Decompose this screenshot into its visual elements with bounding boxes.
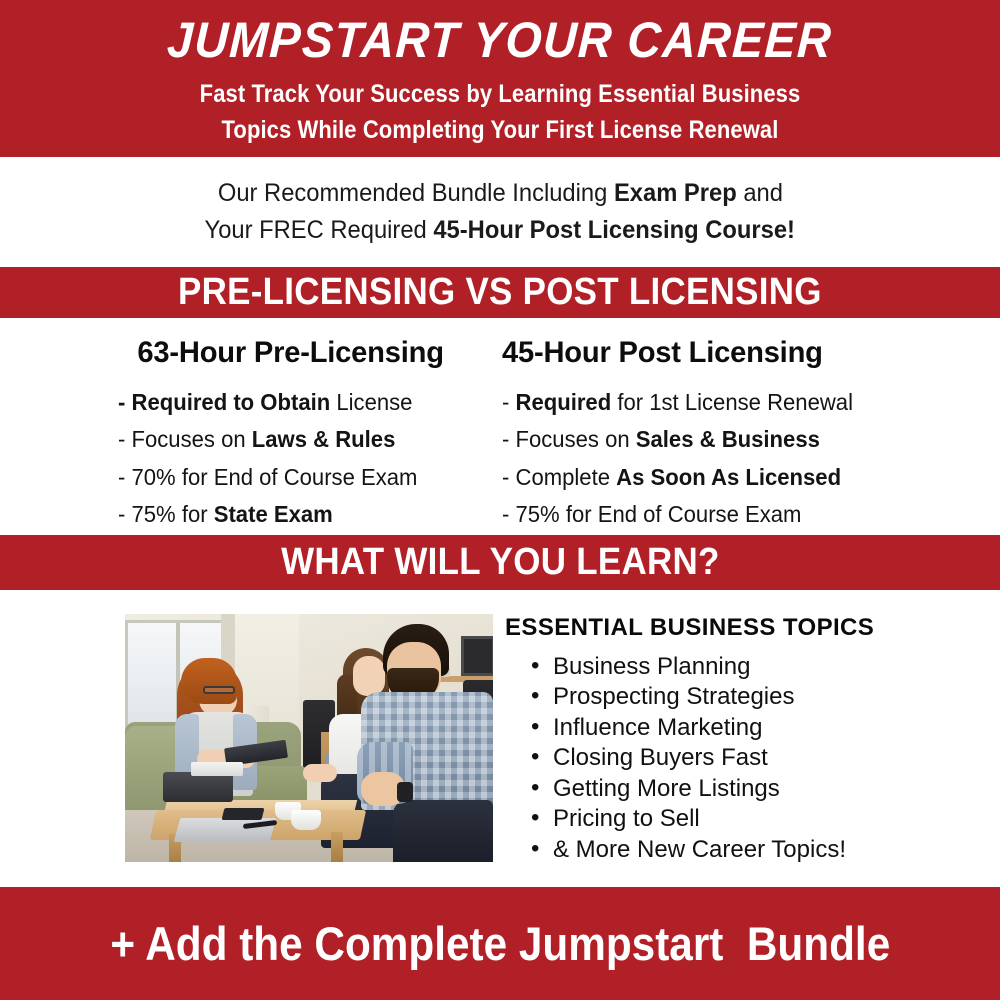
list-bold: Sales & Business [636,426,820,452]
topics-panel: ESSENTIAL BUSINESS TOPICS Business Plann… [505,614,975,865]
add-bundle-banner[interactable]: + Add the Complete Jumpstart Bundle [0,887,1000,1000]
list-plain: for 1st License Renewal [611,389,853,415]
list-plain: 75% for End of Course Exam [516,501,802,527]
list-dash: - [502,464,516,490]
list-item: - Focuses on Sales & Business [502,421,980,458]
list-dash: - [502,501,516,527]
postlicensing-column: 45-Hour Post Licensing - Required for 1s… [480,318,1000,535]
list-dash: - [118,426,132,452]
learn-section: ESSENTIAL BUSINESS TOPICS Business Plann… [0,590,1000,887]
list-dash: - [118,389,132,415]
photo-phone [222,808,265,820]
header-subtitle-line-1: Fast Track Your Success by Learning Esse… [60,77,940,113]
list-dash: - [118,501,132,527]
comparison-banner: PRE-LICENSING VS POST LICENSING [0,267,1000,318]
topics-list: Business Planning Prospecting Strategies… [505,652,975,865]
intro-line-1-pre: Our Recommended Bundle Including [217,179,613,207]
list-item: - Complete As Soon As Licensed [502,459,980,496]
prelicensing-column: 63-Hour Pre-Licensing - Required to Obta… [0,318,480,535]
list-dash: - [118,464,132,490]
intro-line-2-bold: 45-Hour Post Licensing Course! [434,216,796,244]
list-item: Prospecting Strategies [531,682,975,712]
prelicensing-heading: 63-Hour Pre-Licensing [118,336,469,370]
photo-woman-client-hand [303,764,337,782]
photo-table-leg-right [331,832,343,862]
intro-line-1-bold: Exam Prep [614,179,737,207]
list-item: Business Planning [531,652,975,682]
topics-heading: ESSENTIAL BUSINESS TOPICS [505,614,975,642]
header-subtitle: Fast Track Your Success by Learning Esse… [60,68,940,148]
learn-banner-title: WHAT WILL YOU LEARN? [281,541,720,584]
intro-line-1-post: and [736,179,782,207]
list-plain: 75% for [132,501,214,527]
intro-line-1: Our Recommended Bundle Including Exam Pr… [217,175,782,213]
page-title: JUMPSTART YOUR CAREER [33,0,966,68]
photo-cup-right [291,810,321,830]
list-plain: Focuses on [132,426,252,452]
list-item: - Focuses on Laws & Rules [118,421,466,458]
comparison-banner-title: PRE-LICENSING VS POST LICENSING [178,271,822,314]
list-item: Pricing to Sell [531,804,975,834]
list-item: - 75% for State Exam [118,496,466,533]
photo-man-client-legs [393,800,493,862]
postlicensing-heading: 45-Hour Post Licensing [502,336,985,370]
list-dash: - [502,389,516,415]
list-bold: As Soon As Licensed [616,464,841,490]
meeting-photo [125,614,493,862]
list-bold: Laws & Rules [252,426,396,452]
learn-banner: WHAT WILL YOU LEARN? [0,535,1000,590]
list-item: - Required to Obtain License [118,384,466,421]
list-plain: License [330,389,412,415]
header-subtitle-line-2: Topics While Completing Your First Licen… [60,113,940,149]
photo-agent-hair-front [181,658,237,704]
intro-line-2-pre: Your FREC Required [205,216,434,244]
header-banner: JUMPSTART YOUR CAREER Fast Track Your Su… [0,0,1000,157]
promo-graphic: JUMPSTART YOUR CAREER Fast Track Your Su… [0,0,1000,1000]
list-item: & More New Career Topics! [531,835,975,865]
list-item: - 70% for End of Course Exam [118,459,466,496]
list-item: Closing Buyers Fast [531,743,975,773]
list-item: - Required for 1st License Renewal [502,384,980,421]
list-item: - 75% for End of Course Exam [502,496,980,533]
list-bold: Required [516,389,612,415]
list-plain: Focuses on [516,426,636,452]
intro-section: Our Recommended Bundle Including Exam Pr… [0,157,1000,267]
list-item: Influence Marketing [531,713,975,743]
photo-paper-stack [191,762,243,776]
intro-line-2: Your FREC Required 45-Hour Post Licensin… [205,212,795,250]
add-bundle-label: + Add the Complete Jumpstart Bundle [110,916,890,971]
photo-printer [163,772,233,802]
photo-picture-frame [461,636,493,676]
photo-agent-glasses [203,686,235,694]
list-plain: 70% for End of Course Exam [132,464,418,490]
list-bold: State Exam [214,501,333,527]
comparison-section: 63-Hour Pre-Licensing - Required to Obta… [0,318,1000,535]
photo-man-client-watch [397,782,413,802]
list-plain: Complete [516,464,617,490]
list-bold: Required to Obtain [132,389,331,415]
photo-woman-client-face [353,656,385,696]
list-item: Getting More Listings [531,774,975,804]
prelicensing-list: - Required to Obtain License - Focuses o… [118,384,480,533]
list-dash: - [502,426,516,452]
